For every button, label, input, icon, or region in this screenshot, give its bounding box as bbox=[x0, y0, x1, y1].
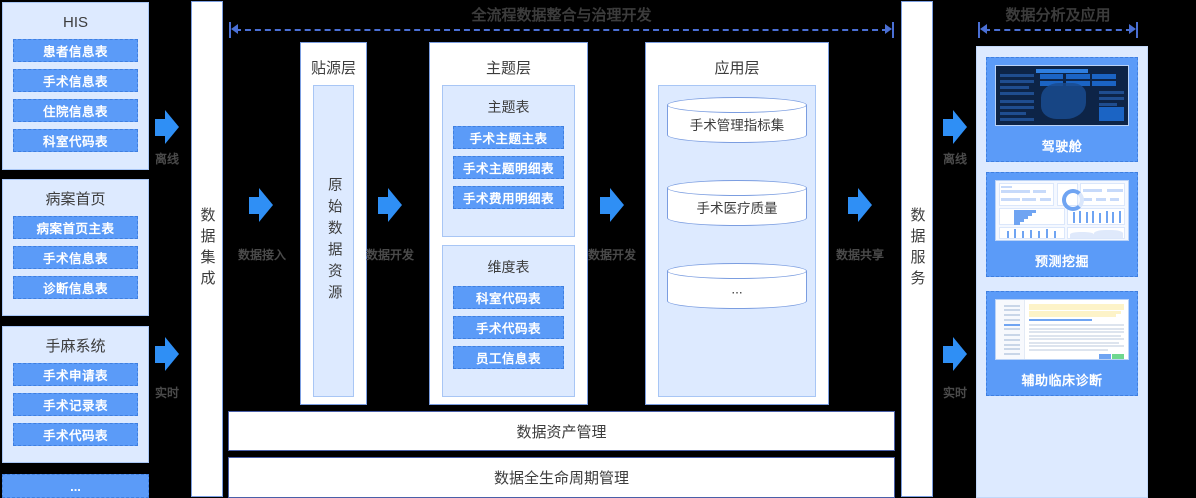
table-chip[interactable]: 手术费用明细表 bbox=[453, 186, 564, 209]
table-chip[interactable]: 住院信息表 bbox=[13, 99, 138, 122]
table-chip[interactable]: 患者信息表 bbox=[13, 39, 138, 62]
source-system-more[interactable]: ... bbox=[2, 474, 149, 498]
table-chip[interactable]: 员工信息表 bbox=[453, 346, 564, 369]
integration-column: 数据集成 bbox=[191, 1, 223, 497]
source-system-his: HIS 患者信息表 手术信息表 住院信息表 科室代码表 bbox=[2, 2, 149, 170]
dataset-label: ... bbox=[667, 282, 807, 297]
arrow-label-realtime: 实时 bbox=[150, 384, 184, 401]
clinical-diagnosis-thumbnail bbox=[995, 299, 1129, 360]
governance-header: 全流程数据整合与治理开发 bbox=[229, 0, 894, 34]
panel-title: 主题表 bbox=[443, 86, 574, 126]
table-chip[interactable]: 手术信息表 bbox=[13, 246, 138, 269]
service-column-label: 数据服务 bbox=[910, 207, 925, 291]
analytics-header-title: 数据分析及应用 bbox=[978, 4, 1138, 25]
analytics-app-clinical-diagnosis[interactable]: 辅助临床诊断 bbox=[986, 291, 1138, 396]
analytics-app-label: 辅助临床诊断 bbox=[987, 370, 1137, 389]
bi-charts-graphic bbox=[996, 181, 1128, 240]
dataset-label: 手术管理指标集 bbox=[667, 114, 807, 134]
table-chip[interactable]: 手术代码表 bbox=[453, 316, 564, 339]
source-system-title: 病案首页 bbox=[3, 180, 148, 216]
analytics-app-label: 驾驶舱 bbox=[987, 136, 1137, 155]
arrow-data-ingest bbox=[249, 188, 273, 222]
arrow-label-service-offline: 离线 bbox=[938, 150, 972, 167]
prediction-thumbnail bbox=[995, 180, 1129, 241]
arrow-label-offline: 离线 bbox=[150, 150, 184, 167]
dataset-label: 手术医疗质量 bbox=[667, 197, 807, 217]
architecture-diagram: HIS 患者信息表 手术信息表 住院信息表 科室代码表 病案首页 病案首页主表 … bbox=[0, 0, 1196, 498]
layer-title: 主题层 bbox=[430, 43, 587, 78]
table-chip[interactable]: 手术代码表 bbox=[13, 423, 138, 446]
arrow-service-offline bbox=[943, 110, 967, 144]
table-chip[interactable]: 手术主题明细表 bbox=[453, 156, 564, 179]
table-chip[interactable]: 手术主题主表 bbox=[453, 126, 564, 149]
arrow-label-data-dev-2: 数据开发 bbox=[579, 246, 645, 263]
service-column: 数据服务 bbox=[901, 1, 933, 497]
source-system-anesthesia: 手麻系统 手术申请表 手术记录表 手术代码表 bbox=[2, 326, 149, 463]
arrow-data-dev-1 bbox=[378, 188, 402, 222]
table-chip[interactable]: 科室代码表 bbox=[13, 129, 138, 152]
cockpit-thumbnail bbox=[995, 65, 1129, 126]
layer-title: 贴源层 bbox=[301, 43, 366, 78]
panel-title: 维度表 bbox=[443, 246, 574, 286]
source-system-title: 手麻系统 bbox=[3, 327, 148, 363]
source-system-title: HIS bbox=[3, 3, 148, 39]
document-view-graphic bbox=[996, 300, 1128, 359]
integration-column-label: 数据集成 bbox=[200, 207, 215, 291]
dimension-table-panel: 维度表 科室代码表 手术代码表 员工信息表 bbox=[442, 245, 575, 397]
table-chip[interactable]: 科室代码表 bbox=[453, 286, 564, 309]
table-chip[interactable]: 病案首页主表 bbox=[13, 216, 138, 239]
analytics-app-cockpit[interactable]: 驾驶舱 bbox=[986, 57, 1138, 162]
table-chip[interactable]: 诊断信息表 bbox=[13, 276, 138, 299]
table-chip[interactable]: 手术申请表 bbox=[13, 363, 138, 386]
source-system-medical-record: 病案首页 病案首页主表 手术信息表 诊断信息表 bbox=[2, 179, 149, 316]
dark-dashboard-graphic bbox=[996, 66, 1128, 125]
raw-data-resource-label: 原始数据资源 bbox=[326, 177, 341, 306]
arrow-data-share bbox=[848, 188, 872, 222]
analytics-header: 数据分析及应用 bbox=[978, 0, 1138, 34]
arrow-his-offline bbox=[155, 110, 179, 144]
layer-title: 应用层 bbox=[646, 43, 828, 78]
dataset-cylinder[interactable]: 手术医疗质量 bbox=[667, 180, 807, 226]
data-lifecycle-management-bar[interactable]: 数据全生命周期管理 bbox=[228, 457, 895, 498]
arrow-label-data-ingest: 数据接入 bbox=[229, 246, 295, 263]
analytics-app-label: 预测挖掘 bbox=[987, 251, 1137, 270]
raw-data-resource-strip: 原始数据资源 bbox=[313, 85, 354, 397]
dataset-cylinder[interactable]: ... bbox=[667, 263, 807, 309]
arrow-label-data-share: 数据共享 bbox=[827, 246, 893, 263]
data-asset-management-bar[interactable]: 数据资产管理 bbox=[228, 411, 895, 451]
table-chip[interactable]: 手术记录表 bbox=[13, 393, 138, 416]
arrow-label-service-realtime: 实时 bbox=[938, 384, 972, 401]
arrow-label-data-dev-1: 数据开发 bbox=[357, 246, 423, 263]
governance-header-title: 全流程数据整合与治理开发 bbox=[229, 4, 894, 25]
arrow-data-dev-2 bbox=[600, 188, 624, 222]
arrow-anesthesia-realtime bbox=[155, 337, 179, 371]
arrow-service-realtime bbox=[943, 337, 967, 371]
dataset-cylinder[interactable]: 手术管理指标集 bbox=[667, 97, 807, 143]
table-chip[interactable]: 手术信息表 bbox=[13, 69, 138, 92]
subject-table-panel: 主题表 手术主题主表 手术主题明细表 手术费用明细表 bbox=[442, 85, 575, 237]
analytics-app-prediction[interactable]: 预测挖掘 bbox=[986, 172, 1138, 277]
